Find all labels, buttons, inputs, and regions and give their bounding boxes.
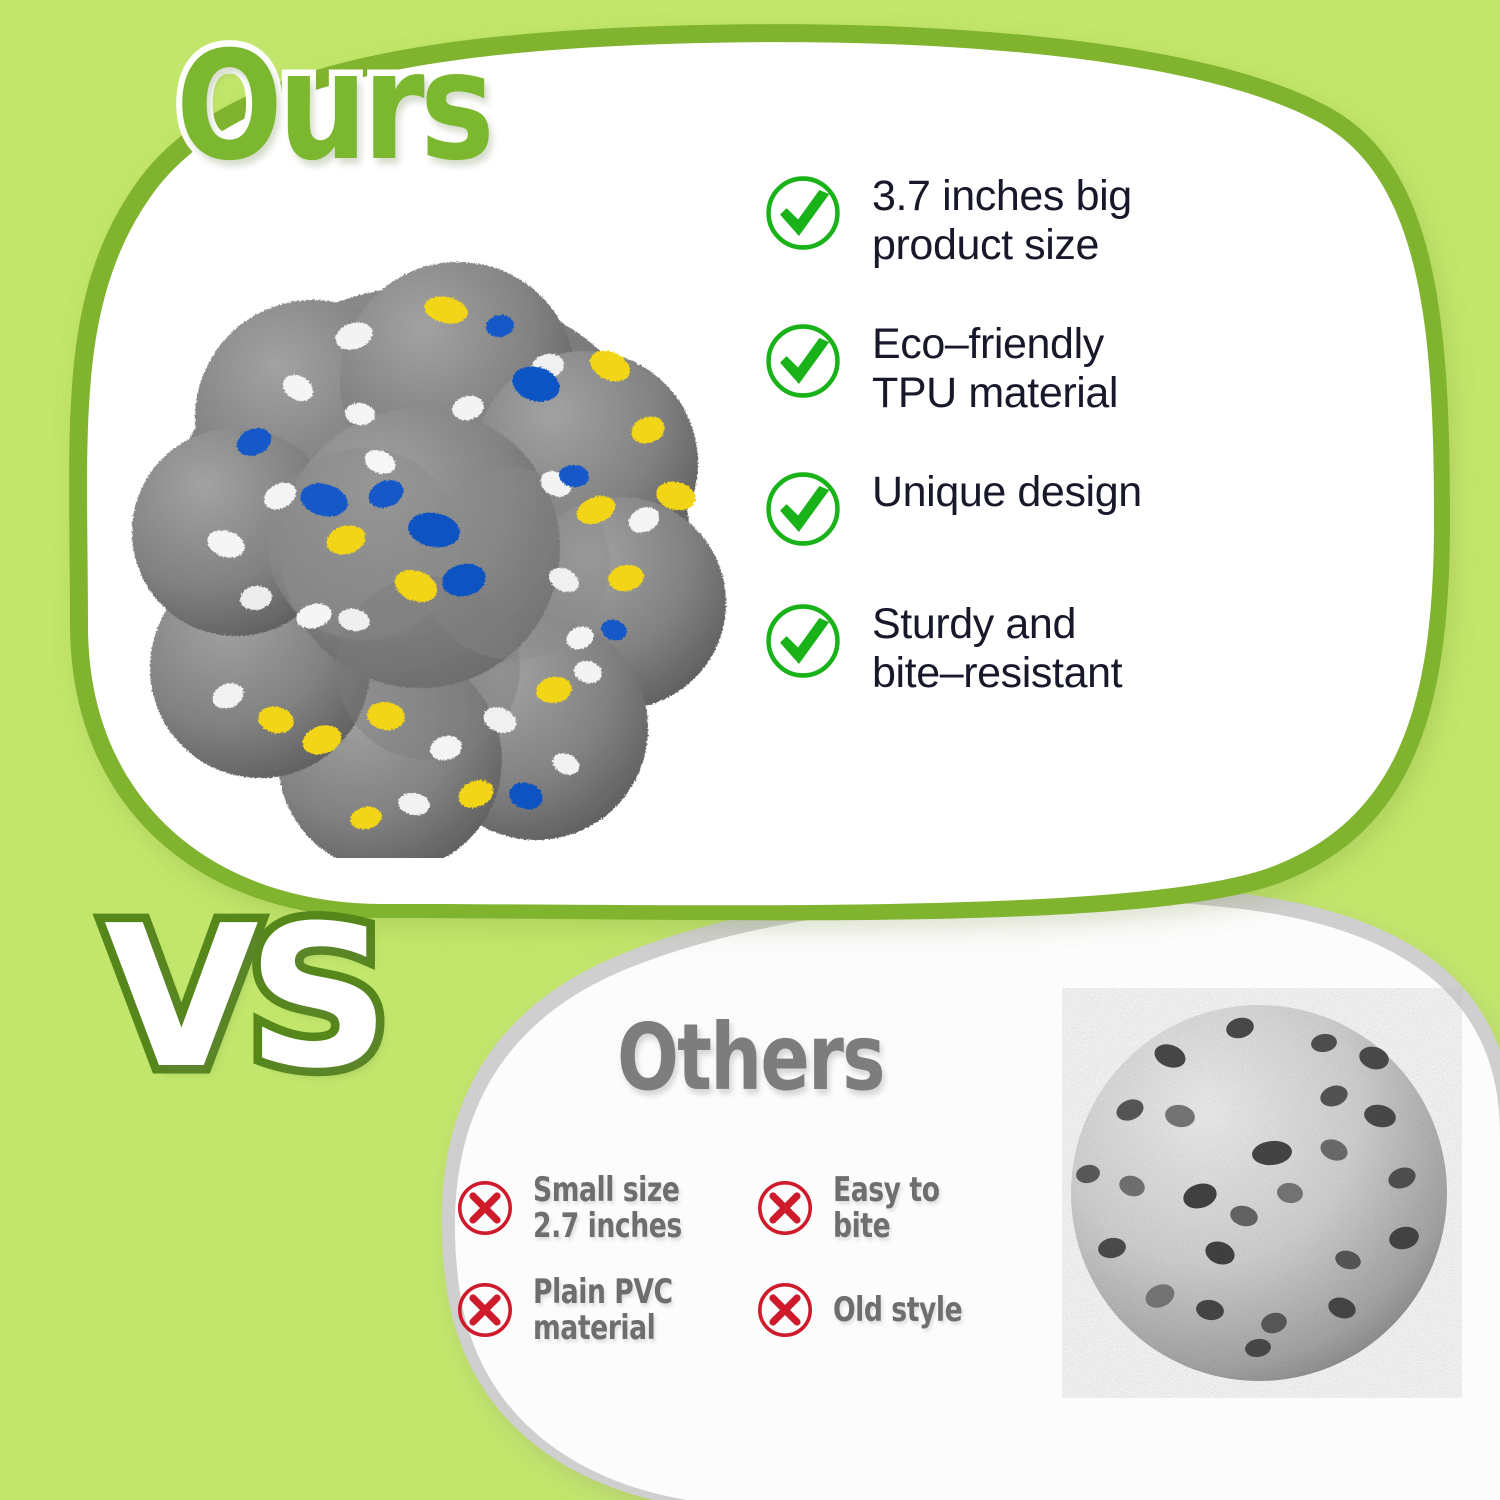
feature-label: 3.7 inches big product size xyxy=(872,168,1132,270)
drawback-label: Plain PVC material xyxy=(533,1274,673,1346)
drawback-item: Old style xyxy=(755,1274,1025,1346)
others-product-image xyxy=(1062,988,1462,1398)
drawback-item: Small size 2.7 inches xyxy=(455,1172,755,1244)
check-circle-icon xyxy=(762,320,844,402)
ours-product-image xyxy=(128,248,728,858)
others-title: Others xyxy=(617,1012,884,1104)
versus-label: VS xyxy=(104,900,378,1096)
check-circle-icon xyxy=(762,600,844,682)
ours-title: Ours xyxy=(176,32,490,182)
feature-item: Eco–friendly TPU material xyxy=(762,316,1232,418)
drawback-label: Old style xyxy=(833,1292,962,1328)
drawback-item: Easy to bite xyxy=(755,1172,1025,1244)
drawback-label: Easy to bite xyxy=(833,1172,1000,1244)
feature-label: Unique design xyxy=(872,464,1142,517)
feature-label: Eco–friendly TPU material xyxy=(872,316,1118,418)
feature-item: Sturdy and bite–resistant xyxy=(762,596,1232,698)
ours-feature-list: 3.7 inches big product size Eco–friendly… xyxy=(762,168,1232,698)
check-circle-icon xyxy=(762,172,844,254)
check-circle-icon xyxy=(762,468,844,550)
x-circle-icon xyxy=(455,1178,515,1238)
comparison-infographic: Ours xyxy=(0,0,1500,1500)
drawback-item: Plain PVC material xyxy=(455,1274,755,1346)
drawback-label: Small size 2.7 inches xyxy=(533,1172,682,1244)
feature-label: Sturdy and bite–resistant xyxy=(872,596,1122,698)
feature-item: 3.7 inches big product size xyxy=(762,168,1232,270)
x-circle-icon xyxy=(755,1178,815,1238)
x-circle-icon xyxy=(755,1280,815,1340)
x-circle-icon xyxy=(455,1280,515,1340)
feature-item: Unique design xyxy=(762,464,1232,550)
others-drawback-list: Small size 2.7 inches Easy to bite Plain… xyxy=(455,1172,1025,1346)
